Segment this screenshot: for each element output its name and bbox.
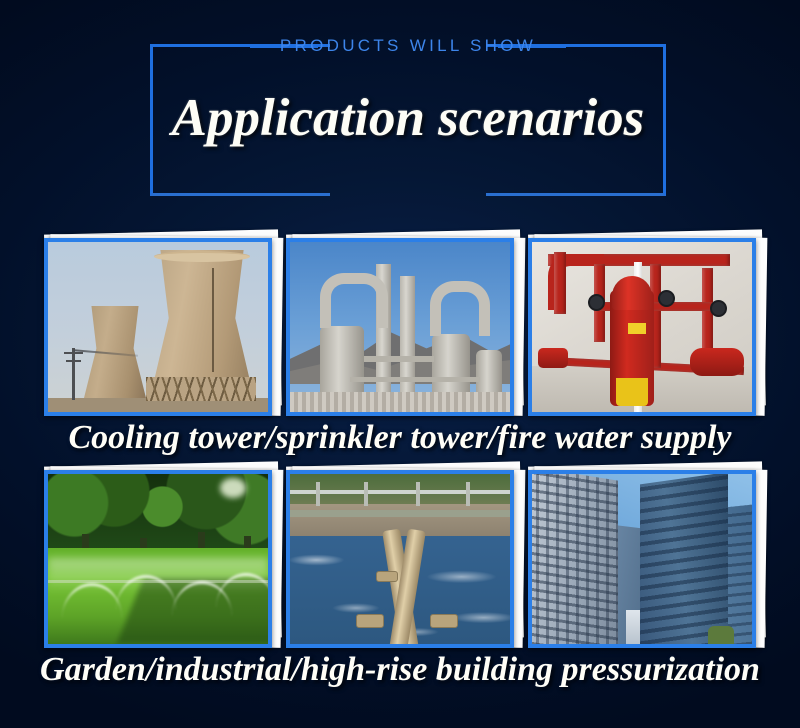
high-rise-photo xyxy=(528,470,756,648)
tile-scrubber-tower xyxy=(286,238,514,416)
tile-high-rise xyxy=(528,470,756,648)
fire-hydrant-photo xyxy=(528,238,756,416)
cooling-tower-photo xyxy=(44,238,272,416)
eyebrow-text: PRODUCTS WILL SHOW xyxy=(150,36,666,56)
tile-garden-sprinkler xyxy=(44,470,272,648)
application-scenarios-poster: PRODUCTS WILL SHOW Application scenarios xyxy=(0,0,800,728)
garden-sprinkler-photo xyxy=(44,470,272,648)
water-treatment-photo xyxy=(286,470,514,648)
scrubber-tower-photo xyxy=(286,238,514,416)
caption-row-2: Garden/industrial/high-rise building pre… xyxy=(0,650,800,690)
page-title: Application scenarios xyxy=(150,88,666,148)
header-block: PRODUCTS WILL SHOW Application scenarios xyxy=(150,36,666,196)
tile-water-treatment xyxy=(286,470,514,648)
photo-row-1 xyxy=(0,238,800,438)
tile-fire-hydrant xyxy=(528,238,756,416)
caption-row-1: Cooling tower/sprinkler tower/fire water… xyxy=(0,418,800,458)
tile-cooling-tower xyxy=(44,238,272,416)
photo-row-2 xyxy=(0,470,800,670)
